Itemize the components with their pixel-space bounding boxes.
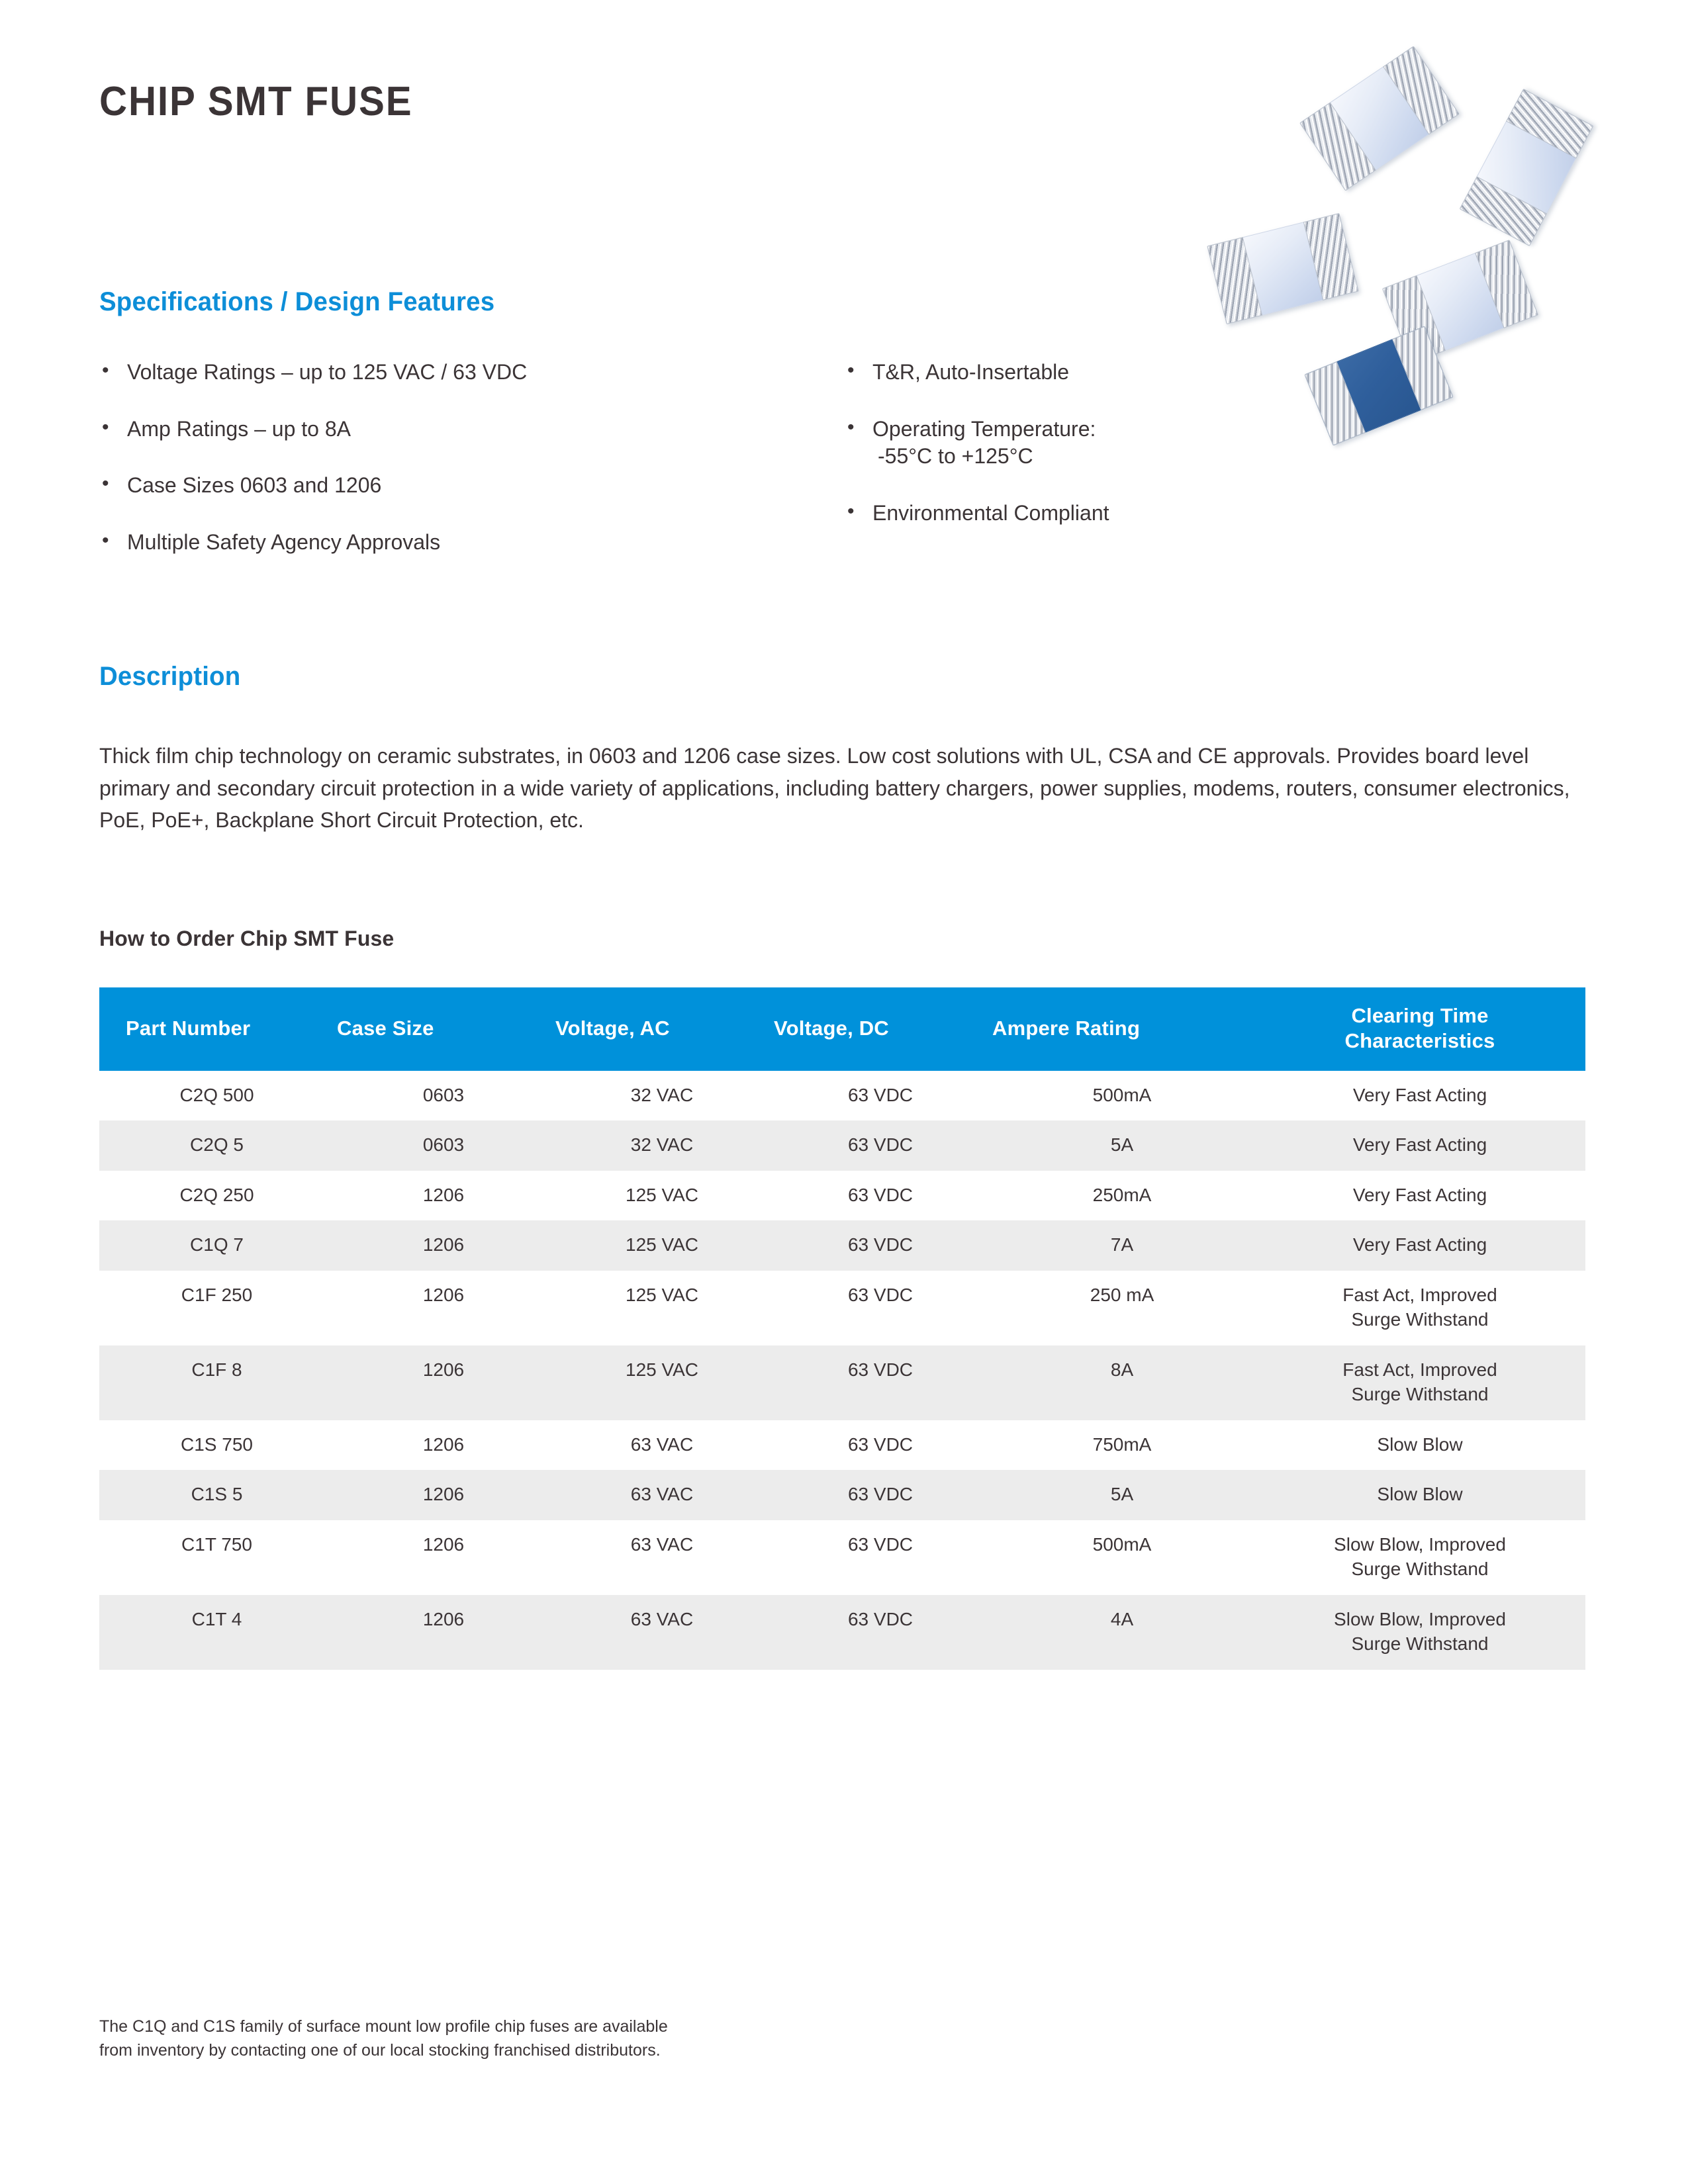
- spec-bullet-voltage-ratings: Voltage Ratings – up to 125 VAC / 63 VDC: [99, 359, 794, 387]
- cell-clearing-time: Slow Blow, ImprovedSurge Withstand: [1254, 1520, 1585, 1595]
- table-row: C1F 81206125 VAC63 VDC8AFast Act, Improv…: [99, 1345, 1585, 1420]
- cell-ampere-rating: 5A: [990, 1120, 1254, 1171]
- table-row: C1Q 71206125 VAC63 VDC7AVery Fast Acting: [99, 1220, 1585, 1271]
- spec-bullet-temperature-range: -55°C to +125°C: [872, 443, 1440, 471]
- cell-clearing-time: Slow Blow, ImprovedSurge Withstand: [1254, 1595, 1585, 1670]
- cell-voltage-ac: 125 VAC: [553, 1171, 771, 1221]
- cell-ampere-rating: 8A: [990, 1345, 1254, 1420]
- clearing-line-1: Very Fast Acting: [1353, 1085, 1487, 1105]
- spec-bullet-label: Environmental Compliant: [872, 501, 1109, 525]
- cell-clearing-time: Fast Act, ImprovedSurge Withstand: [1254, 1345, 1585, 1420]
- cell-voltage-dc: 63 VDC: [771, 1520, 990, 1595]
- cell-voltage-dc: 63 VDC: [771, 1071, 990, 1121]
- table-row: C1S 5120663 VAC63 VDC5ASlow Blow: [99, 1470, 1585, 1520]
- spec-bullet-operating-temperature: Operating Temperature: -55°C to +125°C: [845, 416, 1440, 471]
- table-row: C1F 2501206125 VAC63 VDC250 mAFast Act, …: [99, 1271, 1585, 1345]
- spec-bullet-label: Operating Temperature:: [872, 417, 1096, 441]
- cell-part-number: C1Q 7: [99, 1220, 334, 1271]
- cell-voltage-ac: 32 VAC: [553, 1071, 771, 1121]
- cell-part-number: C2Q 250: [99, 1171, 334, 1221]
- cell-voltage-ac: 63 VAC: [553, 1470, 771, 1520]
- cell-clearing-time: Slow Blow: [1254, 1420, 1585, 1471]
- cell-part-number: C2Q 500: [99, 1071, 334, 1121]
- cell-voltage-ac: 125 VAC: [553, 1345, 771, 1420]
- cell-part-number: C2Q 5: [99, 1120, 334, 1171]
- cell-part-number: C1F 8: [99, 1345, 334, 1420]
- spec-bullet-case-sizes: Case Sizes 0603 and 1206: [99, 472, 794, 500]
- table-row: C2Q 500060332 VAC63 VDC500mAVery Fast Ac…: [99, 1071, 1585, 1121]
- cell-part-number: C1F 250: [99, 1271, 334, 1345]
- cell-clearing-time: Slow Blow: [1254, 1470, 1585, 1520]
- order-table: Part Number Case Size Voltage, AC Voltag…: [99, 987, 1585, 1670]
- column-header-part-number: Part Number: [99, 987, 334, 1071]
- cell-ampere-rating: 250 mA: [990, 1271, 1254, 1345]
- cell-part-number: C1T 750: [99, 1520, 334, 1595]
- table-row: C1T 4120663 VAC63 VDC4ASlow Blow, Improv…: [99, 1595, 1585, 1670]
- column-header-voltage-dc: Voltage, DC: [771, 987, 990, 1071]
- cell-ampere-rating: 7A: [990, 1220, 1254, 1271]
- cell-clearing-time: Very Fast Acting: [1254, 1171, 1585, 1221]
- cell-part-number: C1S 750: [99, 1420, 334, 1471]
- table-row: C1T 750120663 VAC63 VDC500mASlow Blow, I…: [99, 1520, 1585, 1595]
- table-header-row: Part Number Case Size Voltage, AC Voltag…: [99, 987, 1585, 1071]
- cell-case-size: 0603: [334, 1120, 553, 1171]
- column-header-voltage-ac: Voltage, AC: [553, 987, 771, 1071]
- clearing-line-1: Slow Blow: [1377, 1434, 1462, 1455]
- cell-clearing-time: Fast Act, ImprovedSurge Withstand: [1254, 1271, 1585, 1345]
- cell-ampere-rating: 500mA: [990, 1520, 1254, 1595]
- clearing-line-2: Surge Withstand: [1257, 1307, 1583, 1332]
- cell-case-size: 0603: [334, 1071, 553, 1121]
- cell-voltage-dc: 63 VDC: [771, 1470, 990, 1520]
- table-row: C2Q 2501206125 VAC63 VDC250mAVery Fast A…: [99, 1171, 1585, 1221]
- clearing-line-1: Slow Blow, Improved: [1334, 1609, 1506, 1629]
- clearing-line-1: Very Fast Acting: [1353, 1234, 1487, 1255]
- cell-case-size: 1206: [334, 1345, 553, 1420]
- description-body: Thick film chip technology on ceramic su…: [99, 740, 1575, 837]
- footer-line-2: from inventory by contacting one of our …: [99, 2041, 661, 2060]
- clearing-line-1: Fast Act, Improved: [1342, 1359, 1497, 1380]
- footer-note: The C1Q and C1S family of surface mount …: [99, 2015, 1026, 2062]
- clearing-line-1: Slow Blow: [1377, 1484, 1462, 1504]
- cell-voltage-dc: 63 VDC: [771, 1595, 990, 1670]
- page-title: CHIP SMT FUSE: [99, 78, 412, 125]
- clearing-line-2: Surge Withstand: [1257, 1382, 1583, 1407]
- spec-bullet-label: Multiple Safety Agency Approvals: [127, 530, 440, 554]
- cell-case-size: 1206: [334, 1220, 553, 1271]
- chip-fuse-image-1: [1299, 46, 1460, 191]
- cell-case-size: 1206: [334, 1595, 553, 1670]
- column-header-ampere-rating: Ampere Rating: [990, 987, 1254, 1071]
- spec-bullet-environmental-compliant: Environmental Compliant: [845, 500, 1440, 527]
- cell-ampere-rating: 4A: [990, 1595, 1254, 1670]
- clearing-line-2: Surge Withstand: [1257, 1631, 1583, 1657]
- cell-ampere-rating: 250mA: [990, 1171, 1254, 1221]
- cell-ampere-rating: 5A: [990, 1470, 1254, 1520]
- spec-bullet-label: T&R, Auto-Insertable: [872, 360, 1069, 384]
- column-header-case-size: Case Size: [334, 987, 553, 1071]
- cell-case-size: 1206: [334, 1171, 553, 1221]
- column-header-clearing-time: Clearing Time Characteristics: [1254, 987, 1585, 1071]
- cell-case-size: 1206: [334, 1271, 553, 1345]
- cell-case-size: 1206: [334, 1470, 553, 1520]
- cell-voltage-dc: 63 VDC: [771, 1220, 990, 1271]
- clearing-line-1: Very Fast Acting: [1353, 1185, 1487, 1205]
- specifications-heading: Specifications / Design Features: [99, 287, 494, 317]
- clearing-header-line1: Clearing Time: [1351, 1004, 1488, 1027]
- clearing-line-1: Fast Act, Improved: [1342, 1285, 1497, 1305]
- cell-voltage-ac: 125 VAC: [553, 1220, 771, 1271]
- clearing-line-2: Surge Withstand: [1257, 1557, 1583, 1582]
- cell-voltage-dc: 63 VDC: [771, 1120, 990, 1171]
- description-heading: Description: [99, 662, 240, 692]
- cell-voltage-dc: 63 VDC: [771, 1420, 990, 1471]
- cell-voltage-ac: 63 VAC: [553, 1595, 771, 1670]
- spec-bullet-label: Case Sizes 0603 and 1206: [127, 473, 381, 497]
- chip-fuse-image-2: [1460, 89, 1594, 246]
- spec-bullet-label: Amp Ratings – up to 8A: [127, 417, 351, 441]
- cell-part-number: C1T 4: [99, 1595, 334, 1670]
- cell-ampere-rating: 750mA: [990, 1420, 1254, 1471]
- cell-voltage-ac: 63 VAC: [553, 1520, 771, 1595]
- cell-case-size: 1206: [334, 1420, 553, 1471]
- clearing-header-line2: Characteristics: [1344, 1029, 1495, 1052]
- specifications-left-column: Voltage Ratings – up to 125 VAC / 63 VDC…: [99, 359, 794, 585]
- spec-bullet-tandr-auto-insertable: T&R, Auto-Insertable: [845, 359, 1440, 387]
- cell-voltage-dc: 63 VDC: [771, 1345, 990, 1420]
- cell-voltage-dc: 63 VDC: [771, 1171, 990, 1221]
- clearing-line-1: Very Fast Acting: [1353, 1134, 1487, 1155]
- cell-part-number: C1S 5: [99, 1470, 334, 1520]
- document-page: CHIP SMT FUSE: [0, 0, 1688, 2184]
- how-to-order-heading: How to Order Chip SMT Fuse: [99, 927, 394, 951]
- table-row: C2Q 5060332 VAC63 VDC5AVery Fast Acting: [99, 1120, 1585, 1171]
- cell-case-size: 1206: [334, 1520, 553, 1595]
- spec-bullet-amp-ratings: Amp Ratings – up to 8A: [99, 416, 794, 443]
- footer-line-1: The C1Q and C1S family of surface mount …: [99, 2017, 668, 2036]
- chip-fuse-image-3: [1207, 213, 1358, 324]
- cell-voltage-ac: 125 VAC: [553, 1271, 771, 1345]
- cell-voltage-dc: 63 VDC: [771, 1271, 990, 1345]
- spec-bullet-safety-approvals: Multiple Safety Agency Approvals: [99, 529, 794, 557]
- specifications-right-column: T&R, Auto-Insertable Operating Temperatu…: [845, 359, 1440, 556]
- cell-clearing-time: Very Fast Acting: [1254, 1120, 1585, 1171]
- spec-bullet-label: Voltage Ratings – up to 125 VAC / 63 VDC: [127, 360, 527, 384]
- cell-voltage-ac: 63 VAC: [553, 1420, 771, 1471]
- cell-clearing-time: Very Fast Acting: [1254, 1220, 1585, 1271]
- cell-ampere-rating: 500mA: [990, 1071, 1254, 1121]
- cell-voltage-ac: 32 VAC: [553, 1120, 771, 1171]
- cell-clearing-time: Very Fast Acting: [1254, 1071, 1585, 1121]
- clearing-line-1: Slow Blow, Improved: [1334, 1534, 1506, 1555]
- table-row: C1S 750120663 VAC63 VDC750mASlow Blow: [99, 1420, 1585, 1471]
